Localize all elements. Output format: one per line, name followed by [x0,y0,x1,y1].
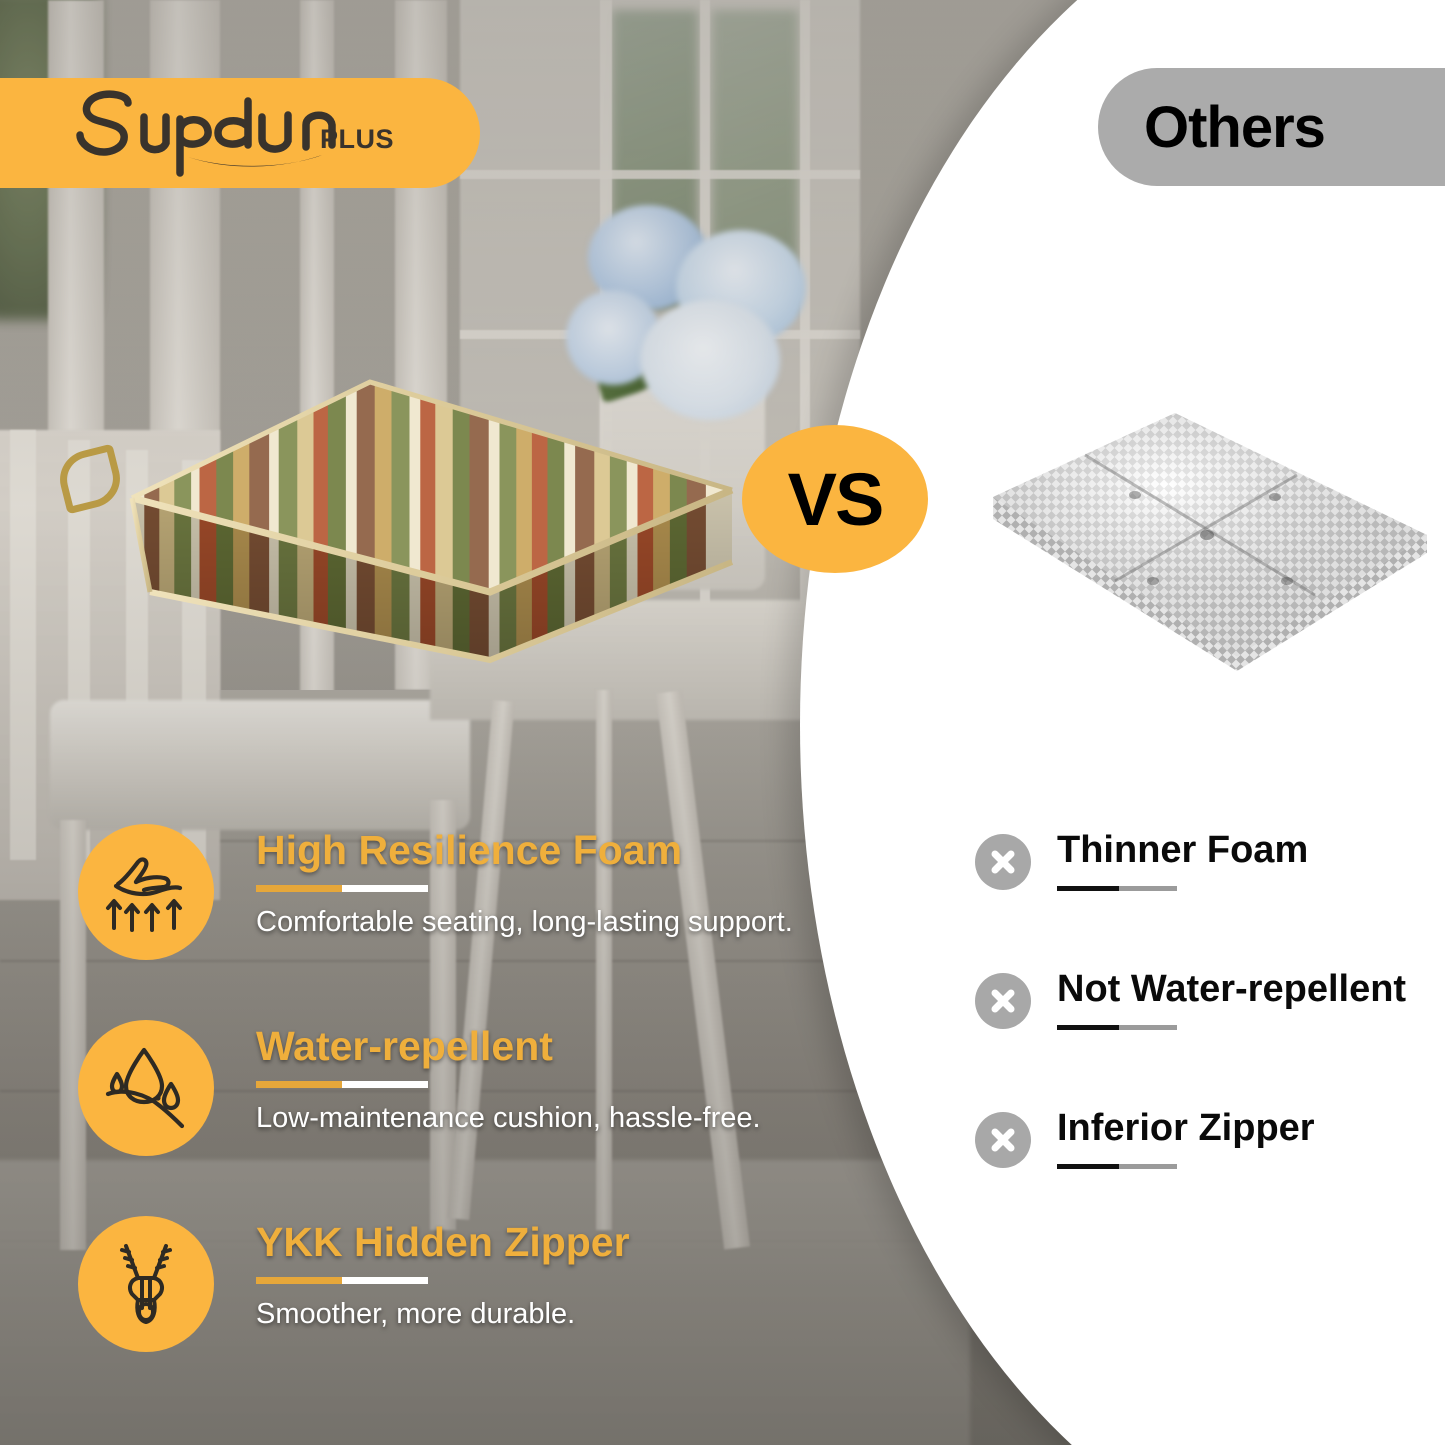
con-item: Thinner Foam [975,830,1445,969]
circle-x-icon [975,1112,1031,1168]
con-divider [1057,886,1177,891]
cons-list: Thinner Foam Not Water-repellent [975,830,1445,1247]
feature-item: YKK Hidden Zipper Smoother, more durable… [78,1214,768,1410]
feature-divider [256,1277,428,1284]
feature-item: High Resilience Foam Comfortable seating… [78,822,768,1018]
competitor-cushion [975,385,1445,675]
feature-title: Water-repellent [256,1024,776,1068]
feature-divider [256,1081,428,1088]
con-divider [1057,1025,1177,1030]
con-title: Thinner Foam [1057,830,1445,872]
comparison-infographic: PLUS Others VS [0,0,1445,1445]
con-title: Not Water-repellent [1057,969,1445,1011]
feature-subtitle: Low-maintenance cushion, hassle-free. [256,1102,776,1135]
feature-divider [256,885,428,892]
others-label: Others [1144,94,1325,161]
feature-title: High Resilience Foam [256,828,776,872]
con-divider [1057,1164,1177,1169]
brand-logo-pill: PLUS [0,78,480,188]
circle-x-icon [975,834,1031,890]
con-item: Inferior Zipper [975,1108,1445,1247]
feature-title: YKK Hidden Zipper [256,1220,776,1264]
vs-badge: VS [742,425,928,573]
feature-list: High Resilience Foam Comfortable seating… [78,822,768,1410]
feature-item: Water-repellent Low-maintenance cushion,… [78,1018,768,1214]
zipper-icon [78,1216,214,1352]
con-item: Not Water-repellent [975,969,1445,1108]
cushion-striped-icon [60,330,740,670]
hand-with-up-arrows-icon [78,824,214,960]
others-badge: Others [1098,68,1445,186]
circle-x-icon [975,973,1031,1029]
con-title: Inferior Zipper [1057,1108,1445,1150]
product-cushion [60,330,740,670]
feature-subtitle: Comfortable seating, long-lasting suppor… [256,906,776,939]
feature-subtitle: Smoother, more durable. [256,1298,776,1331]
brand-wordmark: PLUS [70,87,400,179]
brand-suffix: PLUS [320,124,394,155]
vs-label: VS [788,457,883,542]
water-droplet-repel-icon [78,1020,214,1156]
